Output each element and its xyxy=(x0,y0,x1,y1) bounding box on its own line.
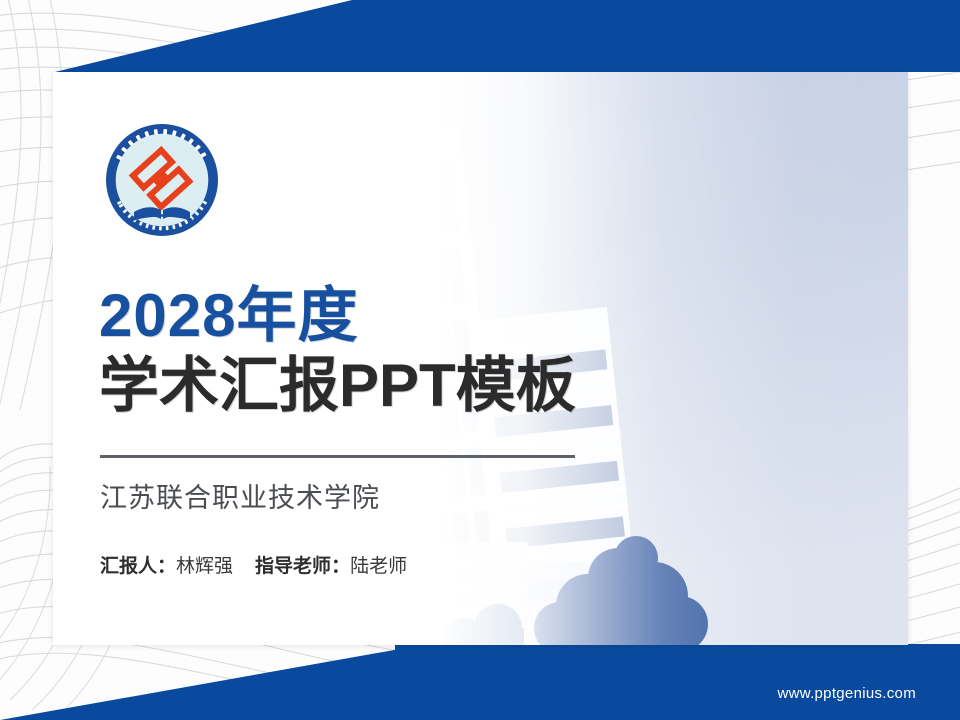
presenter-info: 汇报人：林辉强指导老师：陆老师 xyxy=(100,551,407,578)
title-main: 学术汇报PPT模板 xyxy=(99,356,576,416)
reporter-label: 汇报人 xyxy=(100,556,157,577)
university-logo-icon xyxy=(102,120,222,240)
footer-website-url[interactable]: www.pptgenius.com xyxy=(778,685,917,702)
advisor-separator: ： xyxy=(331,556,350,577)
card-content: 2028年度 学术汇报PPT模板 江苏联合职业技术学院 汇报人：林辉强指导老师：… xyxy=(53,72,908,645)
advisor-label: 指导老师 xyxy=(255,556,331,577)
reporter-separator: ： xyxy=(157,556,176,577)
presentation-title-slide: 2028年度 学术汇报PPT模板 江苏联合职业技术学院 汇报人：林辉强指导老师：… xyxy=(0,0,960,720)
title-card: 2028年度 学术汇报PPT模板 江苏联合职业技术学院 汇报人：林辉强指导老师：… xyxy=(53,72,908,645)
organization-name: 江苏联合职业技术学院 xyxy=(100,476,380,515)
advisor-name: 陆老师 xyxy=(350,556,407,577)
title-year: 2028年度 xyxy=(99,286,358,346)
reporter-name: 林辉强 xyxy=(176,556,233,577)
title-divider xyxy=(100,455,575,458)
